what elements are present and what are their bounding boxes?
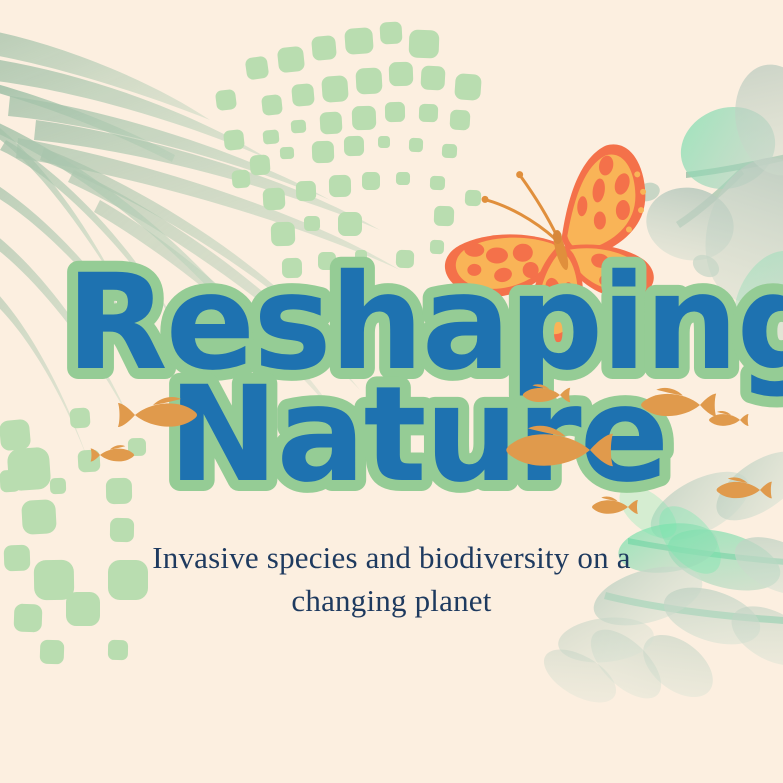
decor-square (378, 136, 390, 148)
title-line2: Nature (168, 358, 667, 512)
decor-square (389, 62, 414, 87)
decor-square (379, 21, 402, 44)
decor-square (321, 75, 349, 103)
decor-square (280, 147, 295, 160)
decor-square (40, 640, 65, 665)
decor-square (291, 83, 315, 107)
decor-square (338, 212, 362, 236)
decor-square (420, 65, 445, 90)
subtitle: Invasive species and biodiversity on a c… (0, 536, 783, 622)
decor-square (319, 111, 342, 134)
decor-square (311, 35, 337, 61)
decor-square (249, 154, 270, 175)
decor-square (344, 136, 364, 156)
decor-square (262, 129, 279, 144)
decor-square (344, 27, 374, 55)
title-block: Reshaping Reshaping Nature Nature (0, 258, 783, 508)
decor-square (231, 169, 251, 189)
decor-square (215, 89, 237, 111)
decor-square (419, 104, 439, 123)
decor-square (409, 138, 423, 152)
decor-square (277, 46, 305, 74)
decor-square (261, 94, 283, 116)
decor-square (449, 109, 470, 130)
decor-square (352, 106, 377, 131)
decor-square (434, 206, 455, 227)
decor-square (396, 172, 410, 185)
decor-square (304, 216, 320, 231)
decor-square (430, 176, 445, 191)
decor-square (291, 119, 307, 133)
decor-square (465, 190, 482, 207)
subtitle-line-2: changing planet (0, 579, 783, 622)
poster-canvas: Reshaping Reshaping Nature Nature Invasi… (0, 0, 783, 783)
decor-square (312, 141, 335, 164)
decor-square (262, 187, 285, 210)
decor-square (454, 73, 482, 101)
decor-square (223, 129, 245, 151)
decor-square (442, 144, 458, 159)
decor-square (329, 175, 351, 197)
decor-square (409, 29, 440, 58)
decor-square (245, 56, 270, 81)
decor-square (385, 102, 405, 122)
subtitle-line-1: Invasive species and biodiversity on a (0, 536, 783, 579)
decor-square (108, 640, 128, 660)
decor-square (362, 172, 380, 190)
decor-square (355, 67, 382, 94)
decor-square (271, 222, 296, 247)
decor-square (296, 181, 317, 202)
